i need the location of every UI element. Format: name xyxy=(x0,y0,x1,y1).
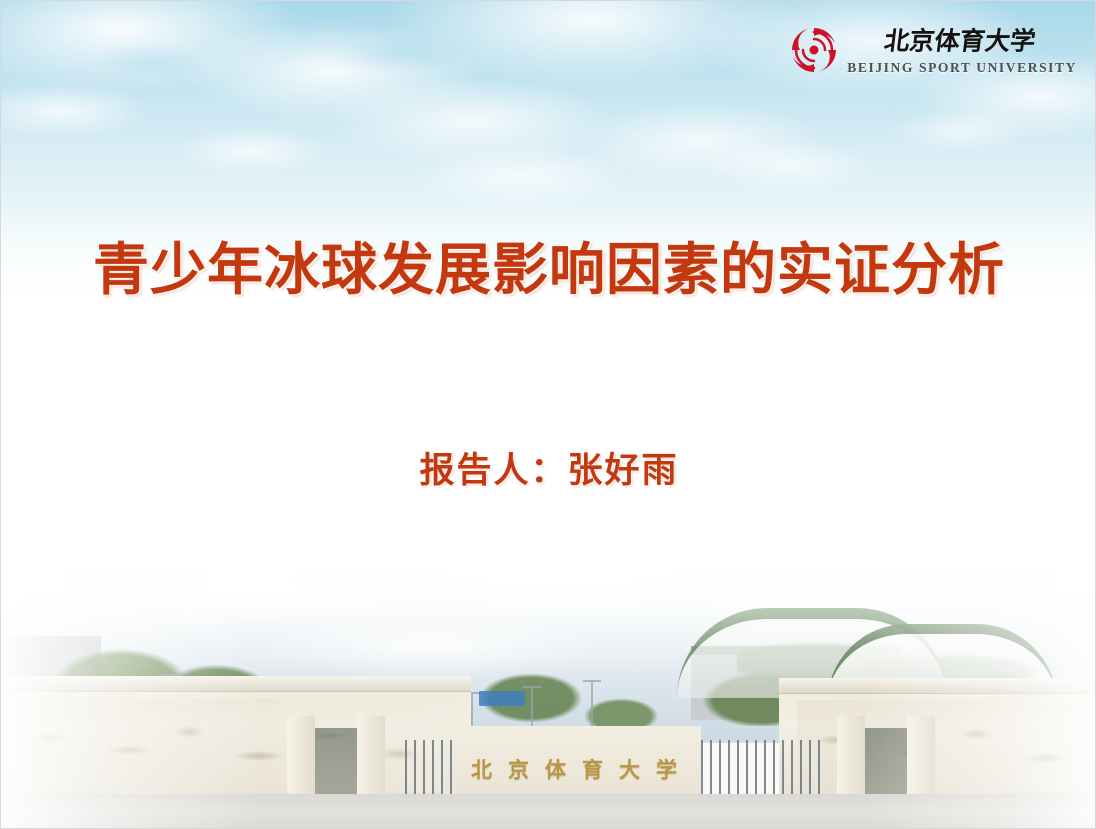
slide-title: 青少年冰球发展影响因素的实证分析 xyxy=(1,225,1096,306)
campus-gate-photo: 北京体育大学 xyxy=(1,528,1096,828)
svg-text:北京体育大学: 北京体育大学 xyxy=(883,26,1038,55)
plaza-ground xyxy=(1,794,1096,828)
left-metal-fence xyxy=(405,740,457,798)
left-relief-wall xyxy=(1,676,471,802)
university-logo: 北京体育大学 BEIJING SPORT UNIVERSITY xyxy=(789,23,1077,76)
right-relief-wall xyxy=(779,678,1096,800)
wall-cap xyxy=(779,678,1096,693)
wall-cap xyxy=(1,676,471,691)
bsu-red-swirl-emblem-icon xyxy=(789,24,839,76)
logo-english-name: BEIJING SPORT UNIVERSITY xyxy=(847,60,1077,76)
blue-road-sign xyxy=(479,691,525,706)
presenter-line: 报告人：张好雨 xyxy=(1,442,1096,493)
right-metal-fence xyxy=(701,740,821,798)
presentation-slide: 北京体育大学 BEIJING SPORT UNIVERSITY 青少年冰球发展影… xyxy=(0,0,1096,829)
logo-chinese-calligraphy: 北京体育大学 xyxy=(848,23,1076,59)
stone-relief-carving xyxy=(9,698,461,792)
gate-inscription: 北京体育大学 xyxy=(471,754,693,784)
